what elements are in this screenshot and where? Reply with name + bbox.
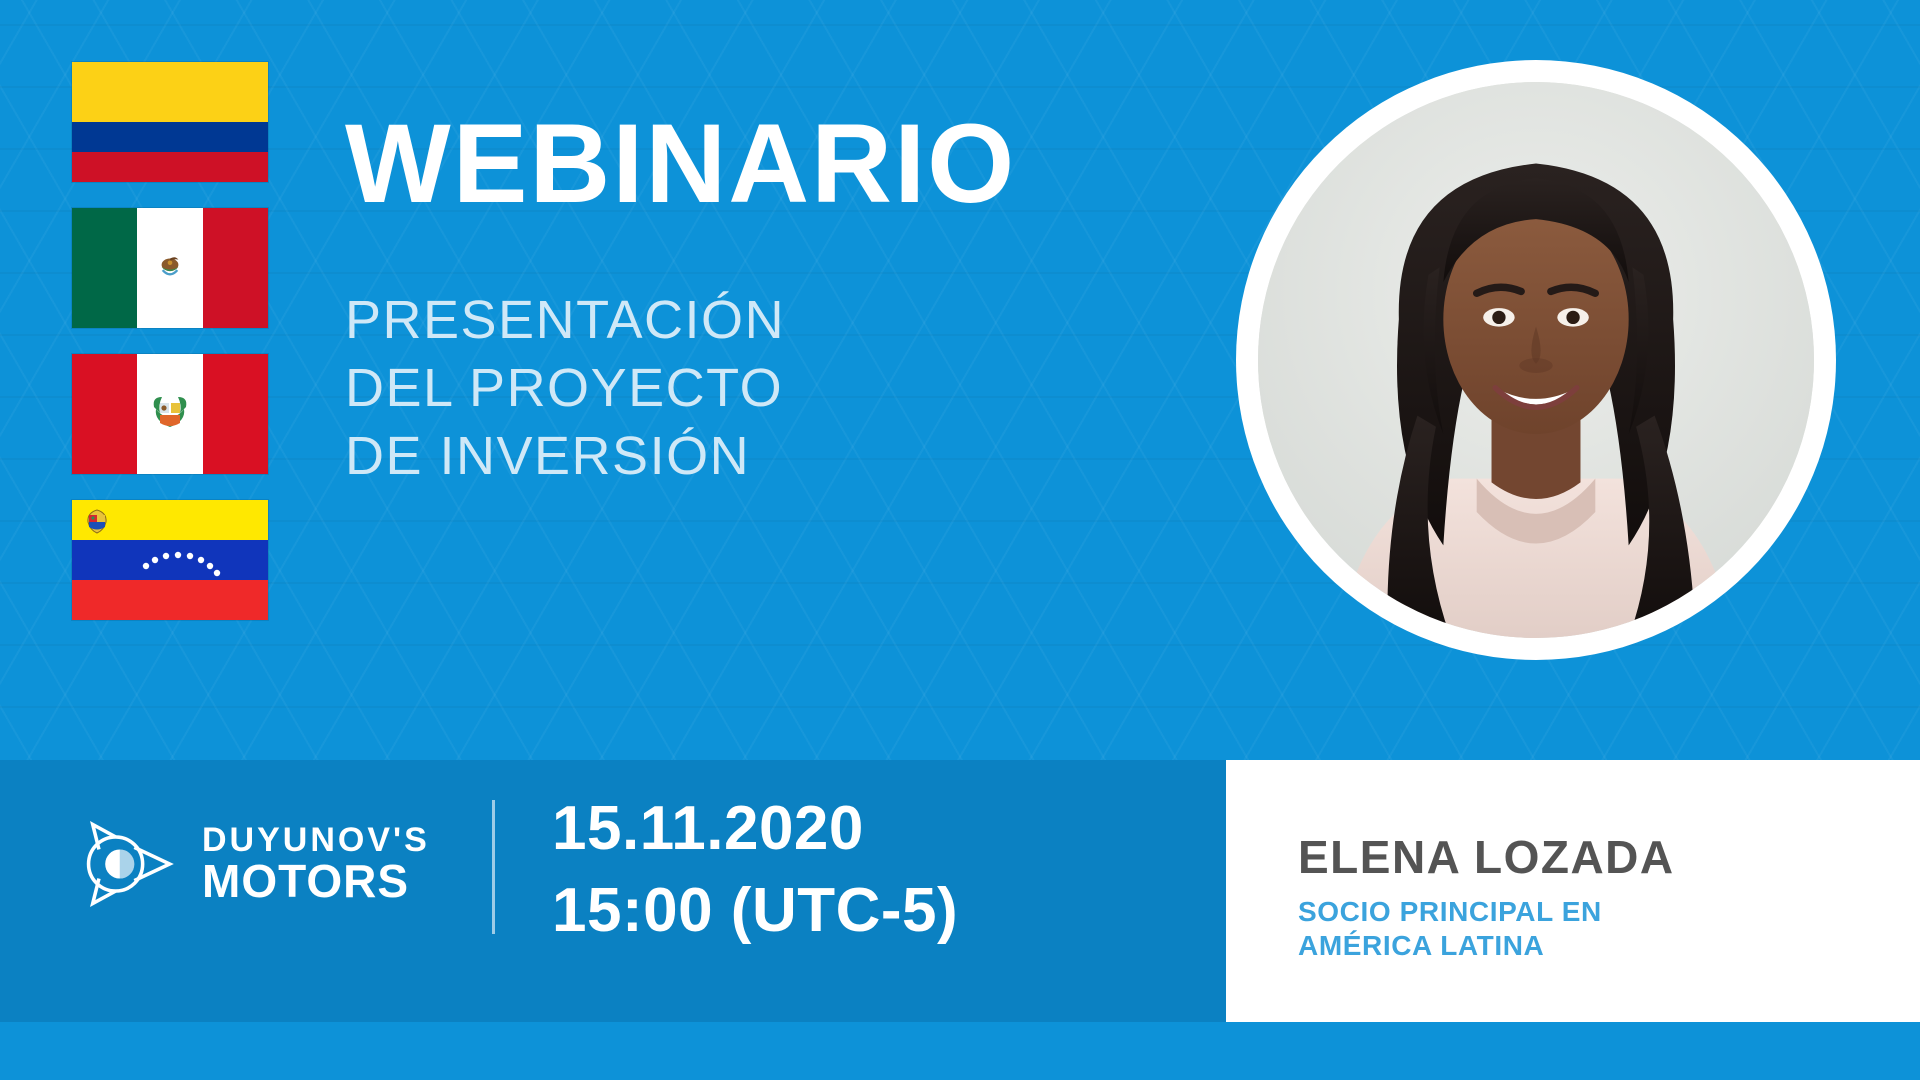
colombia-flag [72,62,268,182]
page-title: WEBINARIO [345,108,1016,220]
event-date: 15.11.2020 [552,788,958,870]
duyunov-logo-icon [74,812,178,916]
speaker-role-line-1: SOCIO PRINCIPAL EN [1298,895,1675,929]
bottom-strip [0,1022,1920,1080]
colombia-yellow-band [72,62,268,122]
venezuela-red-band [72,580,268,620]
event-time: 15:00 (UTC-5) [552,870,958,952]
webinar-banner: WEBINARIO PRESENTACIÓN DEL PROYECTO DE I… [0,0,1920,1080]
page-subtitle: PRESENTACIÓN DEL PROYECTO DE INVERSIÓN [345,286,1016,490]
avatar-image-frame [1258,82,1814,638]
speaker-photo [1258,82,1814,638]
mexico-flag [72,208,268,328]
peru-flag [72,354,268,474]
event-datetime: 15.11.2020 15:00 (UTC-5) [552,788,958,953]
speaker-role: SOCIO PRINCIPAL EN AMÉRICA LATINA [1298,895,1675,963]
mexico-coat-of-arms-icon [149,247,191,289]
colombia-red-band [72,152,268,182]
venezuela-flag [72,500,268,620]
subtitle-line-1: PRESENTACIÓN [345,286,1016,354]
brand-name-line-1: DUYUNOV'S [202,823,430,858]
venezuela-coat-of-arms-icon [84,508,110,534]
peru-right-red-stripe [203,354,268,474]
brand-name-line-2: MOTORS [202,858,430,905]
subtitle-line-2: DEL PROYECTO [345,354,1016,422]
peru-coat-of-arms-icon [148,391,192,437]
speaker-avatar [1236,60,1836,660]
footer-divider [492,800,495,934]
speaker-name: ELENA LOZADA [1298,832,1675,883]
brand-logo-text: DUYUNOV'S MOTORS [202,823,430,905]
speaker-name-card-content: ELENA LOZADA SOCIO PRINCIPAL EN AMÉRICA … [1298,832,1675,963]
mexico-red-stripe [203,208,268,328]
speaker-name-card: ELENA LOZADA SOCIO PRINCIPAL EN AMÉRICA … [1226,760,1920,1022]
speaker-role-line-2: AMÉRICA LATINA [1298,929,1675,963]
subtitle-line-3: DE INVERSIÓN [345,422,1016,490]
headline-block: WEBINARIO PRESENTACIÓN DEL PROYECTO DE I… [345,108,1016,490]
brand-logo: DUYUNOV'S MOTORS [74,812,430,916]
hero-section: WEBINARIO PRESENTACIÓN DEL PROYECTO DE I… [0,0,1920,760]
flag-list [72,62,268,620]
mexico-green-stripe [72,208,137,328]
peru-left-red-stripe [72,354,137,474]
colombia-blue-band [72,122,268,152]
venezuela-stars-arc-icon [72,540,268,580]
